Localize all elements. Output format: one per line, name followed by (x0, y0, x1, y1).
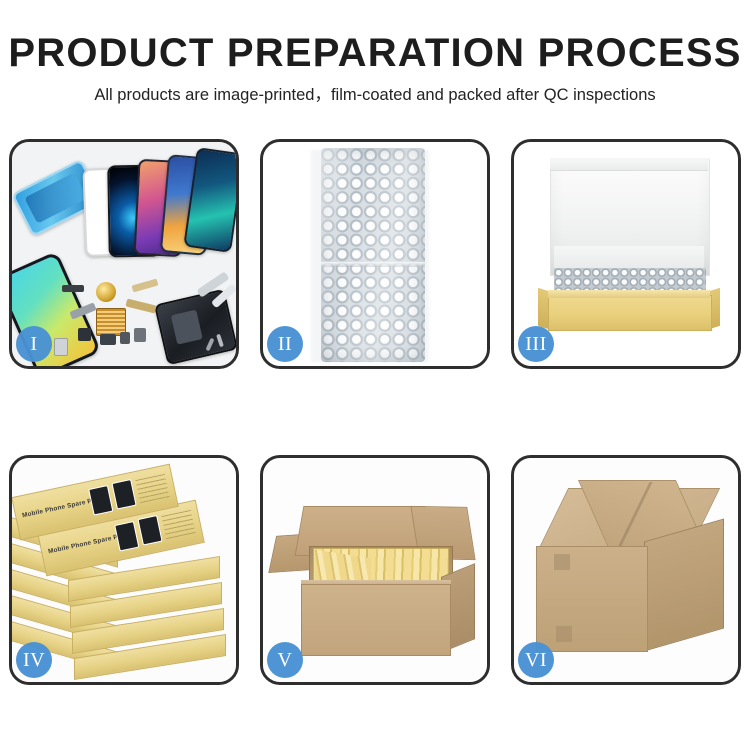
retail-box-spec-lines-1 (135, 474, 169, 504)
process-steps-grid: I II III (9, 139, 741, 685)
carton-front-face (301, 584, 451, 656)
retail-box-phone-graphic-3 (114, 521, 139, 552)
chip-part-4 (134, 328, 146, 342)
process-step-panel-1[interactable]: I (9, 139, 239, 369)
process-step-panel-5[interactable]: V (260, 455, 490, 685)
step-badge-6: VI (518, 642, 554, 678)
chip-part-1 (78, 328, 91, 341)
sealed-carton-side-face (644, 519, 724, 652)
retail-box-phone-graphic-1 (88, 485, 113, 516)
sealed-carton-tab-1 (554, 554, 570, 570)
small-component-part (54, 338, 68, 356)
step-badge-4: IV (16, 642, 52, 678)
bubble-wrap-gloss (321, 148, 425, 362)
process-step-panel-2[interactable]: II (260, 139, 490, 369)
process-step-panel-6[interactable]: VI (511, 455, 741, 685)
white-box-lid-fold (550, 158, 708, 171)
process-step-panel-4[interactable]: Mobile Phone Spare Parts Mobile Phone Sp… (9, 455, 239, 685)
page-title: PRODUCT PREPARATION PROCESS (0, 30, 750, 76)
page-header: PRODUCT PREPARATION PROCESS All products… (0, 0, 750, 106)
retail-box-phone-graphic-4 (137, 515, 162, 546)
step-badge-3: III (518, 326, 554, 362)
gold-coil-part (96, 282, 116, 302)
step-badge-2: II (267, 326, 303, 362)
page-subtitle: All products are image-printed，film-coat… (0, 84, 750, 106)
retail-box-spec-lines-2 (161, 510, 195, 540)
step-badge-1: I (16, 326, 52, 362)
chip-part-2 (100, 334, 116, 345)
battery-part (62, 285, 84, 292)
kraft-box-front-face (548, 295, 712, 331)
chip-part-3 (120, 332, 130, 344)
kraft-box-rim (548, 290, 710, 298)
process-step-panel-3[interactable]: III (511, 139, 741, 369)
step-badge-5: V (267, 642, 303, 678)
retail-box-phone-graphic-2 (111, 479, 136, 510)
sealed-carton-tab-2 (556, 626, 572, 642)
sealed-carton-front-face (536, 546, 648, 652)
